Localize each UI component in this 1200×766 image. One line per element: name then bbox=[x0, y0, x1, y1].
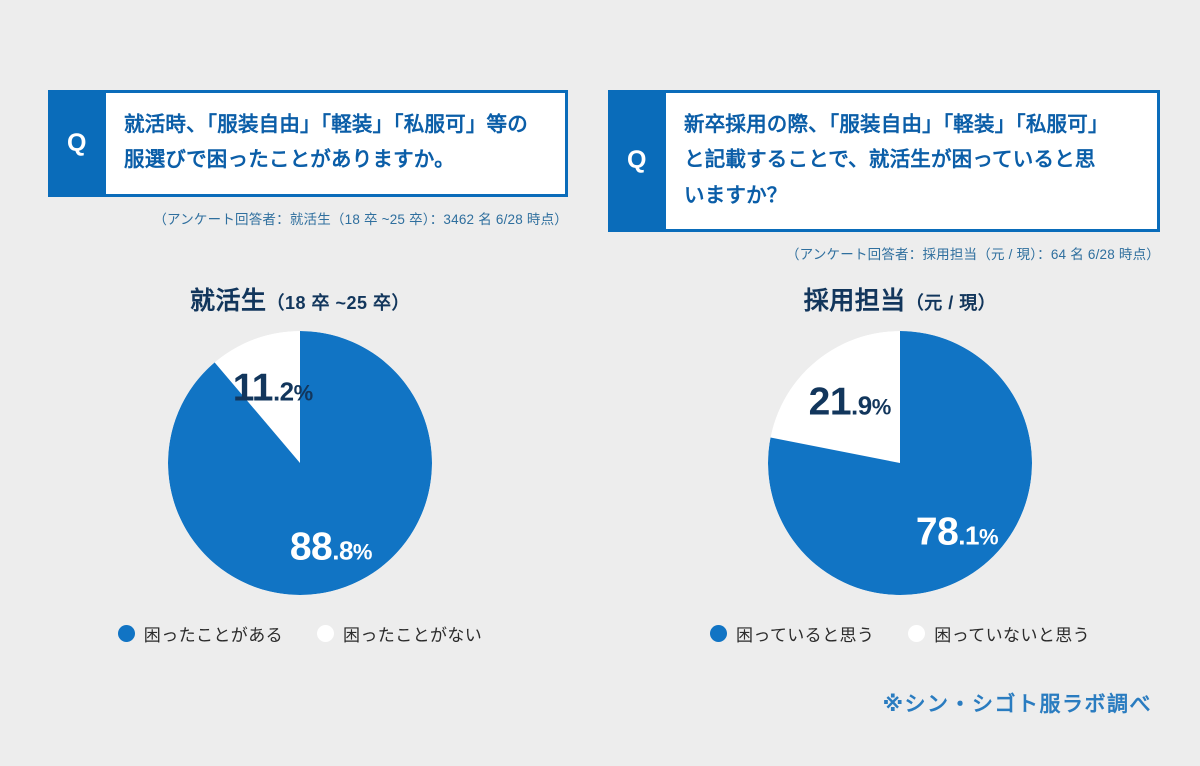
question-panel-left: Q 就活時、「服装自由」「軽装」「私服可」等の 服選びで困ったことがありますか。… bbox=[0, 90, 600, 263]
pie-label-minor-right: 21.9% bbox=[809, 382, 891, 421]
legend-label: 困っていると思う bbox=[736, 621, 874, 646]
chart-title-sub-right: （元 / 現） bbox=[906, 293, 997, 313]
legend-dot-icon bbox=[118, 625, 135, 642]
legend-item-minor-left: 困ったことがない bbox=[317, 621, 482, 646]
question-panels: Q 就活時、「服装自由」「軽装」「私服可」等の 服選びで困ったことがありますか。… bbox=[0, 0, 1200, 263]
question-row-left: Q 就活時、「服装自由」「軽装」「私服可」等の 服選びで困ったことがありますか。 bbox=[48, 90, 568, 197]
question-text-right: 新卒採用の際、「服装自由」「軽装」「私服可」 と記載することで、就活生が困ってい… bbox=[684, 107, 1141, 213]
pie-label-major-left: 88.8% bbox=[290, 528, 372, 567]
legend-dot-icon bbox=[317, 625, 334, 642]
chart-title-left: 就活生（18 卒 ~25 卒） bbox=[190, 281, 410, 317]
legend-item-major-right: 困っていると思う bbox=[710, 621, 874, 646]
question-text-left: 就活時、「服装自由」「軽装」「私服可」等の 服選びで困ったことがありますか。 bbox=[124, 107, 549, 178]
question-note-left: （アンケート回答者：就活生（18 卒 ~25 卒）：3462 名 6/28 時点… bbox=[48, 208, 568, 228]
pie-label-major-right: 78.1% bbox=[916, 513, 998, 552]
legend-item-minor-right: 困っていないと思う bbox=[908, 621, 1090, 646]
legend-item-major-left: 困ったことがある bbox=[118, 621, 283, 646]
chart-title-main-left: 就活生 bbox=[190, 287, 267, 315]
pie-wrap-left: 88.8% 11.2% bbox=[168, 331, 432, 595]
chart-title-sub-left: （18 卒 ~25 卒） bbox=[266, 293, 410, 313]
question-box-right: 新卒採用の際、「服装自由」「軽装」「私服可」 と記載することで、就活生が困ってい… bbox=[666, 90, 1160, 232]
q-badge-right: Q bbox=[608, 90, 666, 232]
legend-label: 困ったことがある bbox=[144, 621, 283, 646]
question-row-right: Q 新卒採用の際、「服装自由」「軽装」「私服可」 と記載することで、就活生が困っ… bbox=[608, 90, 1160, 232]
chart-title-main-right: 採用担当 bbox=[804, 287, 906, 315]
question-box-left: 就活時、「服装自由」「軽装」「私服可」等の 服選びで困ったことがありますか。 bbox=[106, 90, 568, 197]
charts-area: 就活生（18 卒 ~25 卒） 88.8% 11.2% 困ったことがある 困った… bbox=[0, 281, 1200, 646]
question-note-right: （アンケート回答者：採用担当（元 / 現）：64 名 6/28 時点） bbox=[608, 243, 1160, 263]
chart-column-left: 就活生（18 卒 ~25 卒） 88.8% 11.2% 困ったことがある 困った… bbox=[0, 281, 600, 646]
question-panel-right: Q 新卒採用の際、「服装自由」「軽装」「私服可」 と記載することで、就活生が困っ… bbox=[600, 90, 1200, 263]
source-credit: ※シン・シゴト服ラボ調べ bbox=[883, 688, 1152, 718]
legend-dot-icon bbox=[710, 625, 727, 642]
q-badge-left: Q bbox=[48, 90, 106, 197]
pie-label-minor-left: 11.2% bbox=[233, 369, 313, 408]
legend-right: 困っていると思う 困っていないと思う bbox=[710, 621, 1090, 646]
legend-left: 困ったことがある 困ったことがない bbox=[118, 621, 482, 646]
legend-dot-icon bbox=[908, 625, 925, 642]
legend-label: 困っていないと思う bbox=[934, 621, 1090, 646]
pie-chart-right bbox=[768, 331, 1032, 595]
chart-column-right: 採用担当（元 / 現） 78.1% 21.9% 困っていると思う 困っていないと… bbox=[600, 281, 1200, 646]
legend-label: 困ったことがない bbox=[343, 621, 482, 646]
chart-title-right: 採用担当（元 / 現） bbox=[804, 281, 997, 317]
pie-wrap-right: 78.1% 21.9% bbox=[768, 331, 1032, 595]
